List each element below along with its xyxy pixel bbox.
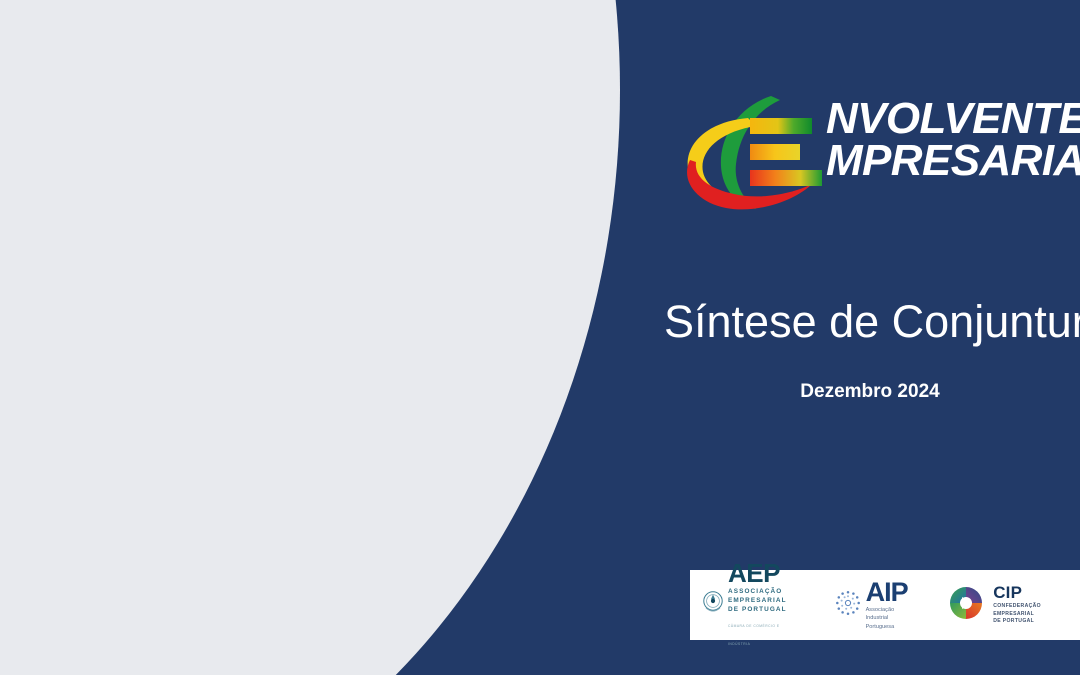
brand-wordmark: NVOLVENTE MPRESARIAL bbox=[826, 98, 1080, 182]
aip-subtitle: Associação Industrial Portuguesa bbox=[866, 606, 917, 631]
cip-colour-ring-icon bbox=[946, 585, 986, 626]
aep-sub-line: DE PORTUGAL bbox=[728, 605, 801, 614]
aip-sub-line: Associação Industrial bbox=[866, 606, 917, 623]
brand-logo: NVOLVENTE MPRESARIAL bbox=[676, 88, 1080, 214]
partner-logo-aep: AEP ASSOCIAÇÃO EMPRESARIAL DE PORTUGAL C… bbox=[702, 570, 801, 640]
aep-subtitle: ASSOCIAÇÃO EMPRESARIAL DE PORTUGAL bbox=[728, 587, 801, 615]
cip-acronym: CIP bbox=[993, 583, 1022, 602]
brand-line-2: MPRESARIAL bbox=[826, 140, 1080, 182]
aip-sub-line: Portuguesa bbox=[866, 623, 917, 631]
aep-sub-line: EMPRESARIAL bbox=[728, 596, 801, 605]
cip-subtitle: CONFEDERAÇÃO EMPRESARIAL DE PORTUGAL bbox=[993, 603, 1080, 626]
brand-line-1: NVOLVENTE bbox=[826, 98, 1080, 140]
aip-text: AIP Associação Industrial Portuguesa bbox=[866, 579, 917, 631]
partner-logo-cip: CIP CONFEDERAÇÃO EMPRESARIAL DE PORTUGAL bbox=[946, 570, 1080, 640]
aip-acronym: AIP bbox=[866, 577, 908, 607]
title-slide: 3.489 78.241 3.22 480 25.256 12.256.515 … bbox=[0, 0, 1080, 675]
aip-dotted-circle-icon bbox=[835, 590, 861, 621]
aep-sub-line: ASSOCIAÇÃO bbox=[728, 587, 801, 596]
cip-sub-line: CONFEDERAÇÃO EMPRESARIAL bbox=[993, 603, 1080, 618]
aep-acronym: AEP bbox=[728, 558, 780, 588]
aep-text: AEP ASSOCIAÇÃO EMPRESARIAL DE PORTUGAL C… bbox=[728, 560, 801, 651]
envolvente-empresarial-e-logo-icon bbox=[676, 88, 832, 214]
partner-logo-aip: AIP Associação Industrial Portuguesa bbox=[835, 570, 917, 640]
cip-text: CIP CONFEDERAÇÃO EMPRESARIAL DE PORTUGAL bbox=[993, 584, 1080, 626]
page-title: Síntese de Conjuntura bbox=[664, 296, 1080, 348]
page-date: Dezembro 2024 bbox=[664, 381, 1076, 403]
cip-sub-line: DE PORTUGAL bbox=[993, 618, 1080, 626]
aep-fine-print: CÂMARA DE COMÉRCIO E INDÚSTRIA bbox=[728, 624, 780, 646]
partner-logo-band: AEP ASSOCIAÇÃO EMPRESARIAL DE PORTUGAL C… bbox=[690, 570, 1080, 640]
photo-white-border bbox=[0, 0, 660, 675]
aep-crest-icon bbox=[702, 590, 724, 621]
